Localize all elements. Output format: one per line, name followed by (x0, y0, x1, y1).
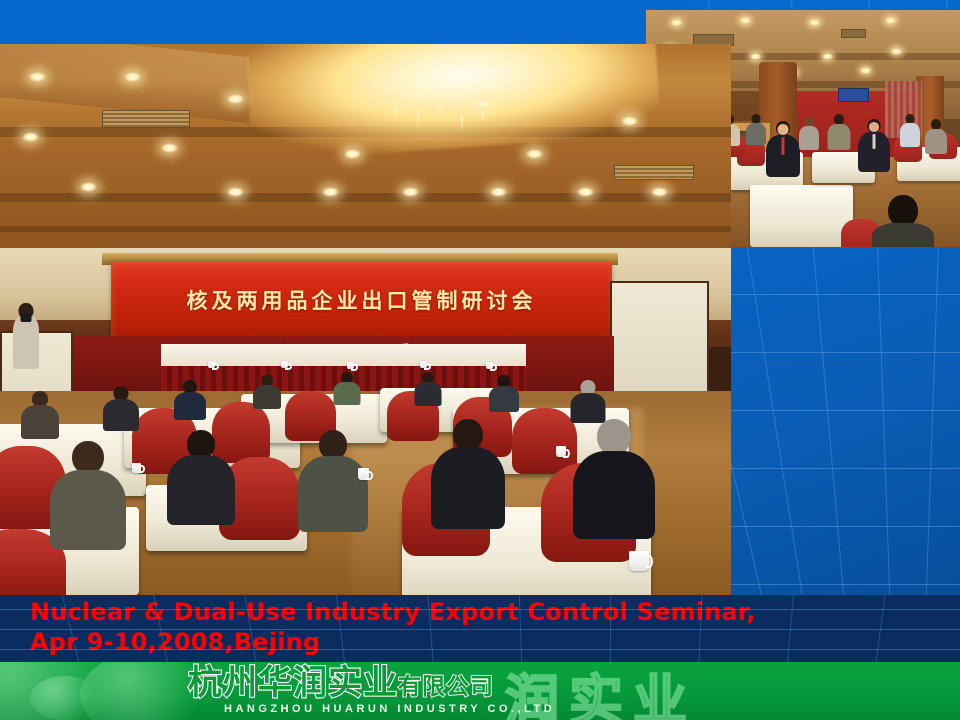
ceiling-vent (102, 110, 190, 128)
company-logo: 杭州华润实业有限公司 HANGZHOU HUARUN INDUSTRY CO.,… (188, 665, 555, 715)
teacup (132, 463, 141, 473)
ceiling-step (0, 226, 731, 232)
teacup (486, 362, 493, 369)
grid-latitude-line (0, 649, 960, 650)
photographer (7, 303, 44, 391)
audience-member-foreground (285, 430, 380, 584)
downlight (822, 53, 833, 60)
downlight (750, 53, 761, 60)
teacup (358, 468, 369, 480)
camera-icon (20, 313, 31, 322)
presentation-slide: 中 (0, 0, 960, 720)
teacup (420, 361, 427, 368)
teacup (347, 362, 354, 369)
round-table (750, 185, 854, 247)
teacup-foreground (629, 551, 649, 571)
red-conference-banner: 核及两用品企业出口管制研讨会 (111, 261, 612, 341)
wall-display-screen (838, 88, 869, 102)
projection-screen-right (610, 281, 709, 402)
attendee (897, 114, 922, 154)
attendee-foreground (872, 195, 935, 247)
company-name-chinese-main: 杭州华润实业 (188, 663, 398, 703)
audience-member-foreground (556, 419, 673, 595)
audience-member-foreground (154, 430, 249, 573)
attendee (797, 117, 822, 157)
attendee-front-center (765, 121, 800, 187)
teacup (281, 361, 288, 368)
ceiling-vent (841, 29, 866, 38)
downlight (885, 17, 896, 24)
decorative-bubble (30, 676, 100, 720)
slide-title: Nuclear & Dual-Use Industry Export Contr… (30, 597, 756, 657)
footer-company-banner: 润实业 杭州华润实业有限公司 HANGZHOU HUARUN INDUSTRY … (0, 662, 960, 720)
teacup (556, 446, 566, 457)
grid-latitude-line (0, 609, 960, 610)
downlight (891, 48, 902, 55)
banner-chinese-text: 核及两用品企业出口管制研讨会 (186, 285, 536, 315)
top-blue-bar (0, 0, 690, 44)
grid-latitude-line (0, 629, 960, 630)
company-name-chinese: 杭州华润实业有限公司 (188, 665, 494, 705)
title-line-2: Apr 9-10,2008,Bejing (30, 627, 756, 657)
downlight (860, 67, 871, 74)
ceiling-vent (614, 165, 694, 179)
title-line-1: Nuclear & Dual-Use Industry Export Contr… (30, 597, 756, 627)
teacup (208, 361, 215, 368)
audience-member-foreground (37, 441, 139, 595)
company-name-chinese-suffix: 有限公司 (398, 674, 494, 700)
photo-main-seminar-hall: 核及两用品企业出口管制研讨会 形 制 出 (0, 44, 731, 595)
attendee (856, 119, 891, 185)
attendee (922, 119, 950, 162)
audience-member-foreground (417, 419, 519, 584)
title-band: Nuclear & Dual-Use Industry Export Contr… (0, 595, 960, 662)
attendee (825, 114, 853, 157)
ceiling-step (0, 193, 731, 202)
company-name-english: HANGZHOU HUARUN INDUSTRY CO.,LTD (224, 703, 555, 715)
